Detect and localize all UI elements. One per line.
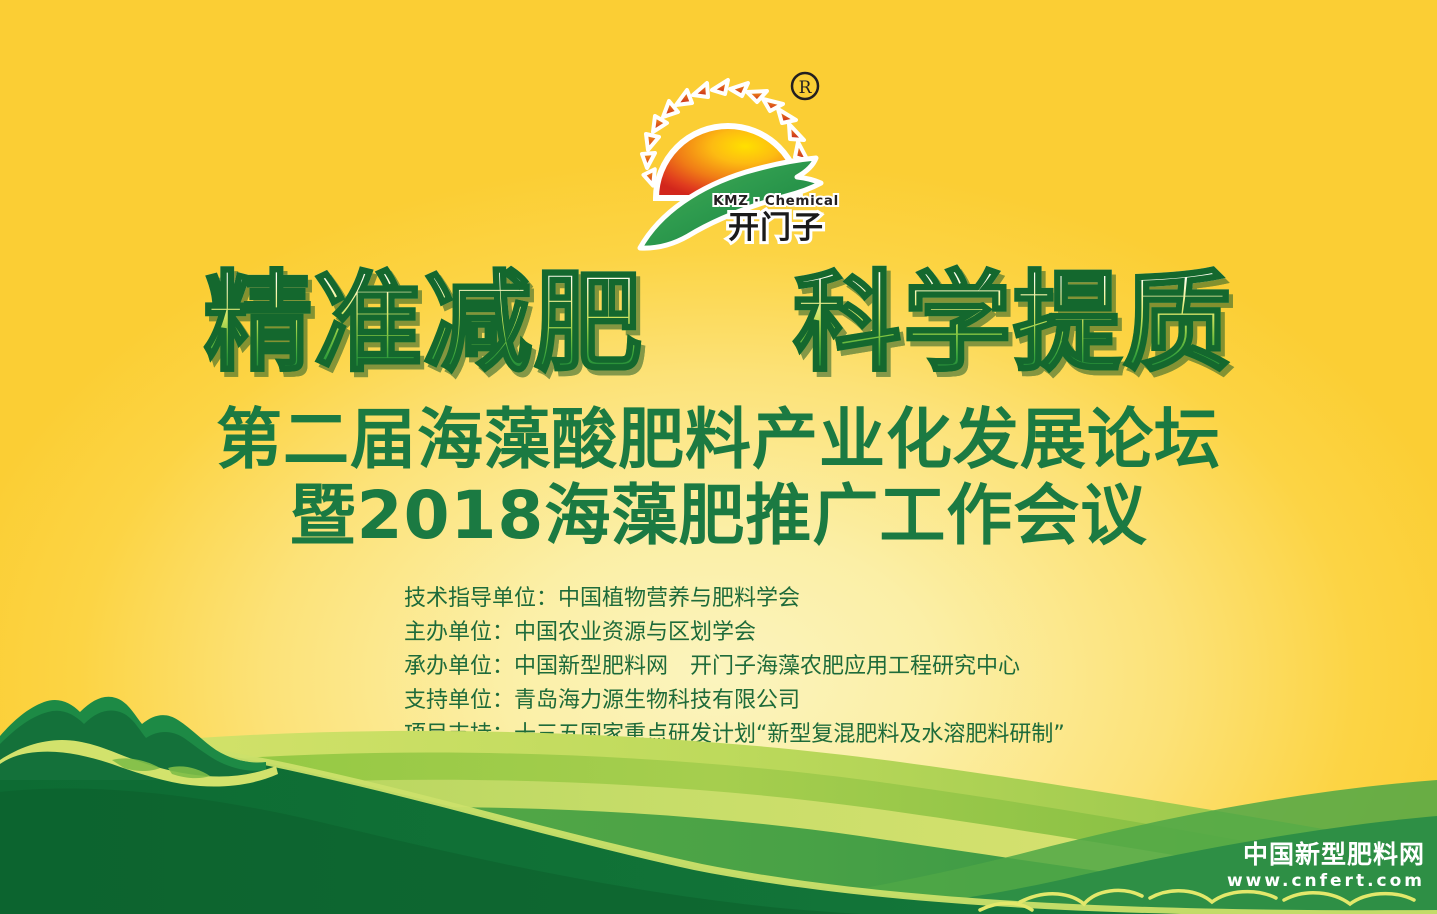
landscape-illustration [0,640,1437,914]
svg-text:KMZ · Chemical: KMZ · Chemical [713,193,839,209]
subtitle-line-1: 第二届海藻酸肥料产业化发展论坛 [0,404,1437,476]
logo-brand-text: KMZ · Chemical 开门子 [713,193,839,246]
subtitle-line-2: 暨2018海藻肥推广工作会议 [0,480,1437,552]
watermark-url: www.cnfert.com [1227,870,1425,892]
svg-text:R: R [799,78,813,98]
company-logo: R KMZ · Chemical 开门子 [630,62,830,252]
headline-part-2: 科学提质 [793,261,1233,386]
watermark-site-name: 中国新型肥料网 [1227,840,1425,870]
svg-text:开门子: 开门子 [728,210,824,246]
headline-part-1: 精准减肥 [204,261,644,386]
info-line-technical-guidance: 技术指导单位：中国植物营养与肥料学会 [404,582,1164,616]
site-watermark: 中国新型肥料网 www.cnfert.com [1227,840,1425,892]
registered-mark-icon: R [792,73,818,99]
poster-canvas: R KMZ · Chemical 开门子 精准减肥 科学提质 第二届海藻酸肥料产… [0,0,1437,914]
poster-headline: 精准减肥 科学提质 [0,268,1437,380]
